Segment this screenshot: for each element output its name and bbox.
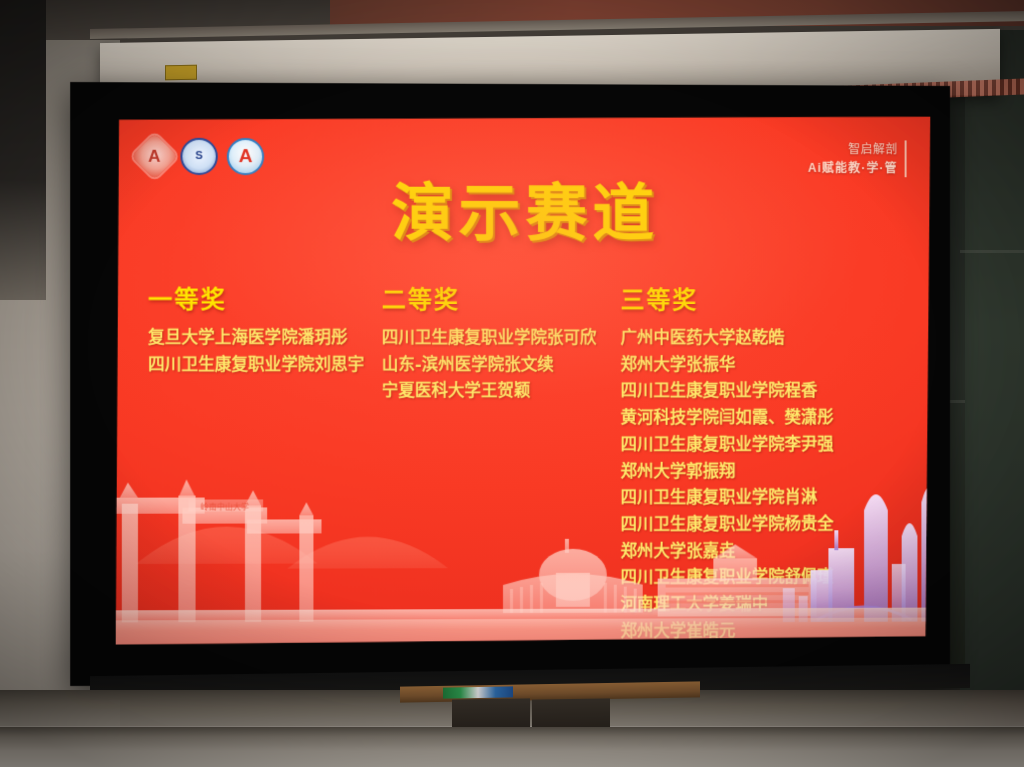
ledge-sticker xyxy=(443,686,513,698)
award-heading-second: 二等奖 xyxy=(382,280,621,315)
winner-list-first: 复旦大学上海医学院潘玥彤 四川卫生康复职业学院刘思宇 xyxy=(148,325,382,379)
winner-list-second: 四川卫生康复职业学院张可欣 山东-滨州医学院张文续 宁夏医科大学王贺颖 xyxy=(382,325,621,405)
left-wall-shadow xyxy=(0,0,46,300)
list-item: 四川卫生康复职业学院杨贵全 xyxy=(620,511,910,538)
presentation-slide: A S A 智启解剖 Ai赋能教·学·管 演示赛道 一等奖 复旦大学上海医学院潘… xyxy=(116,113,931,644)
list-item: 复旦大学上海医学院潘玥彤 xyxy=(148,325,382,352)
slide-title: 演示赛道 xyxy=(116,162,931,254)
slide-ground-glow xyxy=(116,608,931,645)
list-item: 四川卫生康复职业学院李尹强 xyxy=(620,432,910,459)
award-heading-first: 一等奖 xyxy=(148,279,382,314)
list-item: 黄河科技学院闫如霞、樊潇彤 xyxy=(620,405,910,432)
list-item: 广州中医药大学赵乾皓 xyxy=(620,325,910,352)
award-heading-third: 三等奖 xyxy=(620,280,910,315)
right-chalkboard-panel xyxy=(960,30,1024,690)
list-item: 山东-滨州医学院张文续 xyxy=(382,352,621,379)
housing-brand-label xyxy=(165,65,197,81)
list-item: 四川卫生康复职业学院张可欣 xyxy=(382,325,621,352)
list-item: 四川卫生康复职业学院程香 xyxy=(620,378,910,405)
list-item: 郑州大学张振华 xyxy=(620,352,910,379)
award-column-second: 二等奖 四川卫生康复职业学院张可欣 山东-滨州医学院张文续 宁夏医科大学王贺颖 xyxy=(382,280,621,645)
lower-wall xyxy=(0,727,1024,767)
projection-screen: A S A 智启解剖 Ai赋能教·学·管 演示赛道 一等奖 复旦大学上海医学院潘… xyxy=(70,82,950,686)
board-seam-top xyxy=(960,250,1024,253)
classroom-scene: A S A 智启解剖 Ai赋能教·学·管 演示赛道 一等奖 复旦大学上海医学院潘… xyxy=(0,0,1024,767)
award-column-first: 一等奖 复旦大学上海医学院潘玥彤 四川卫生康复职业学院刘思宇 xyxy=(136,279,382,644)
list-item: 四川卫生康复职业学院刘思宇 xyxy=(148,352,382,379)
award-columns: 一等奖 复旦大学上海医学院潘玥彤 四川卫生康复职业学院刘思宇 二等奖 四川卫生康… xyxy=(116,279,931,644)
list-item: 四川卫生康复职业学院舒佩瑾 xyxy=(620,564,910,591)
list-item: 郑州大学郭振翔 xyxy=(620,458,910,485)
award-column-third: 三等奖 广州中医药大学赵乾皓 郑州大学张振华 四川卫生康复职业学院程香 黄河科技… xyxy=(620,280,910,644)
slogan-line-1: 智启解剖 xyxy=(808,140,898,159)
list-item: 四川卫生康复职业学院肖淋 xyxy=(620,485,910,512)
winner-list-third: 广州中医药大学赵乾皓 郑州大学张振华 四川卫生康复职业学院程香 黄河科技学院闫如… xyxy=(620,325,910,644)
list-item: 宁夏医科大学王贺颖 xyxy=(382,378,621,405)
list-item: 郑州大学张嘉垚 xyxy=(620,538,910,565)
